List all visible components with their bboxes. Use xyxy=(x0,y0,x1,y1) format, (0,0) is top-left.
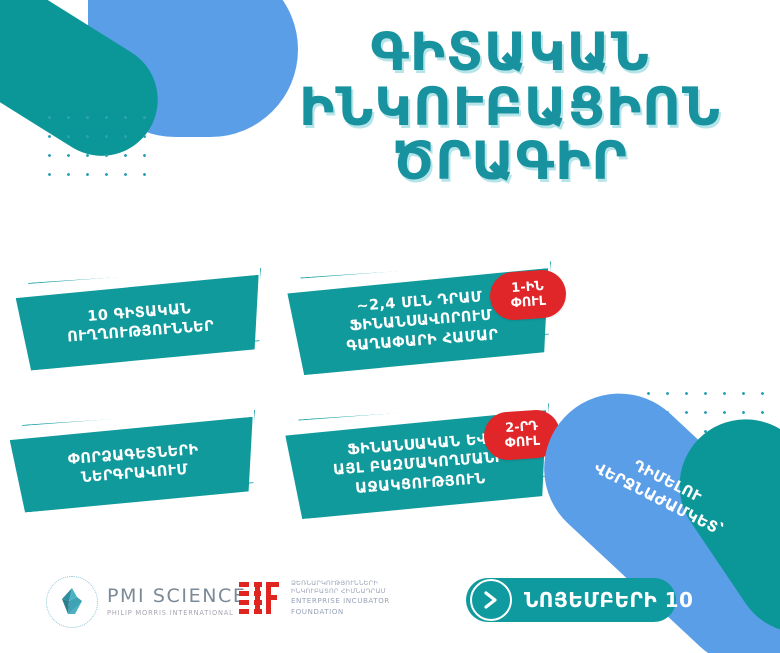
deadline-date: ՆՈՅԵՄԲԵՐԻ 10 xyxy=(524,588,693,612)
pmi-science-logo-icon xyxy=(46,576,98,628)
dot-grid-left xyxy=(38,106,153,188)
page-title: ԳԻՏԱԿԱՆ ԻՆԿՈՒԲԱՑԻՈՆ ԾՐԱԳԻՐ xyxy=(250,26,770,190)
eif-name-en-line1: ENTERPRISE INCUBATOR xyxy=(291,597,390,605)
info-card-experts: ՓՈՐՁԱԳԵՏՆԵՐԻ ՆԵՐԳՐԱՎՈՒՄ xyxy=(12,426,256,504)
eif-name-en-line2: FOUNDATION xyxy=(291,608,390,616)
badge-label: 2-ՐԴ ՓՈՒԼ xyxy=(503,418,540,451)
pmi-science-subtitle: PHILIP MORRIS INTERNATIONAL xyxy=(107,610,247,617)
badge-label: 1-ԻՆ ՓՈՒԼ xyxy=(509,278,546,311)
pmi-science-name: PMI SCIENCE xyxy=(107,587,247,606)
card-label: ՓՈՐՁԱԳԵՏՆԵՐԻ ՆԵՐԳՐԱՎՈՒՄ xyxy=(53,440,214,490)
pmi-science-wordmark: PMI SCIENCE PHILIP MORRIS INTERNATIONAL xyxy=(107,587,247,617)
poster-canvas: ԳԻՏԱԿԱՆ ԻՆԿՈՒԲԱՑԻՈՆ ԾՐԱԳԻՐ 10 ԳԻՏԱԿԱՆ ՈՒ… xyxy=(0,0,780,653)
eif-name-hy-line2: ԻՆԿՈՒԲԱՏՈՐ ՀԻՄՆԱԴՐԱՄ xyxy=(291,588,390,596)
pmi-science-logo: PMI SCIENCE PHILIP MORRIS INTERNATIONAL xyxy=(46,576,247,628)
status-badge-stage-one: 1-ԻՆ ՓՈՒԼ xyxy=(488,268,567,321)
deadline-date-bar[interactable]: ՆՈՅԵՄԲԵՐԻ 10 xyxy=(466,578,676,622)
info-card-scientific-directions: 10 ԳԻՏԱԿԱՆ ՈՒՂՂՈՒԹՅՈՒՆՆԵՐ xyxy=(18,284,262,362)
chevron-right-icon[interactable] xyxy=(470,579,512,621)
card-label: ~2,4 ՄԼՆ ԴՐԱՄ ՖԻՆԱՆՍԱՎՈՐՈՒՄ ԳԱՂԱՓԱՐԻ ՀԱՄ… xyxy=(329,286,513,357)
eif-logo-icon xyxy=(237,578,283,618)
card-label: 10 ԳԻՏԱԿԱՆ ՈՒՂՂՈՒԹՅՈՒՆՆԵՐ xyxy=(51,297,229,349)
eif-wordmark: ՁԵՌՆԱՐԿՈՒԹՅՈՒՆՆԵՐԻ ԻՆԿՈՒԲԱՏՈՐ ՀԻՄՆԱԴՐԱՄ … xyxy=(291,580,390,616)
eif-logo: ՁԵՌՆԱՐԿՈՒԹՅՈՒՆՆԵՐԻ ԻՆԿՈՒԲԱՏՈՐ ՀԻՄՆԱԴՐԱՄ … xyxy=(237,578,390,618)
